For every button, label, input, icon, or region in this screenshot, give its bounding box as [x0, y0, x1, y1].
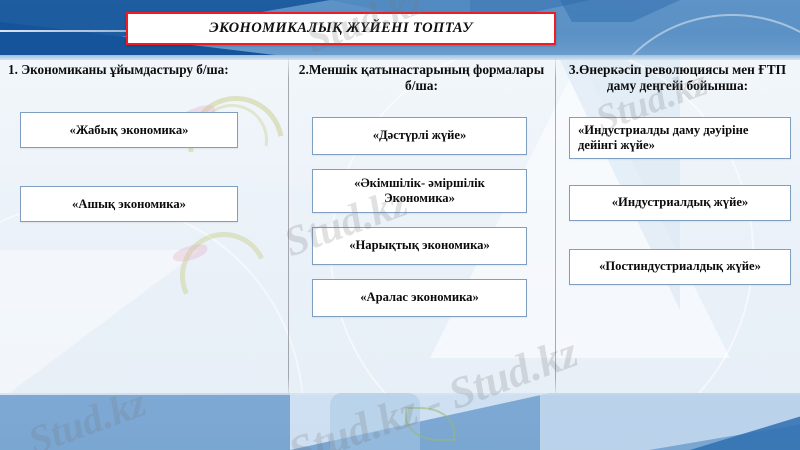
- column-3-heading: 3.Өнеркәсіп революциясы мен ҒТП даму дең…: [561, 62, 794, 95]
- list-item[interactable]: «Жабық экономика»: [20, 112, 238, 148]
- slide-title-plate: ЭКОНОМИКАЛЫҚ ЖҮЙЕНІ ТОПТАУ: [126, 12, 556, 45]
- column-1-items: «Жабық экономика» «Ашық экономика»: [6, 112, 282, 222]
- column-2-heading: 2.Меншік қатынастарының формалары б/ша:: [294, 62, 549, 95]
- page-title: ЭКОНОМИКАЛЫҚ ЖҮЙЕНІ ТОПТАУ: [209, 20, 472, 37]
- column-2-items: «Дәстүрлі жүйе» «Әкімшілік- әміршілік Эк…: [294, 117, 549, 317]
- column-organization-of-economy: 1. Экономиканы ұйымдастыру б/ша: «Жабық …: [0, 58, 288, 393]
- list-item[interactable]: «Индустриалды даму дәуіріне дейінгі жүйе…: [569, 117, 791, 159]
- banner-shape-far-right: [560, 0, 680, 22]
- columns-container: 1. Экономиканы ұйымдастыру б/ша: «Жабық …: [0, 58, 800, 393]
- list-item[interactable]: «Постиндустриалдық жүйе»: [569, 249, 791, 285]
- column-divider-1: [288, 58, 289, 393]
- column-3-items: «Индустриалды даму дәуіріне дейінгі жүйе…: [561, 117, 794, 285]
- list-item[interactable]: «Аралас экономика»: [312, 279, 527, 317]
- column-divider-2: [555, 58, 556, 393]
- column-industrial-revolution-level: 3.Өнеркәсіп революциясы мен ҒТП даму дең…: [555, 58, 800, 393]
- bottom-shape-dark-right: [690, 415, 800, 450]
- slide-canvas: ЭКОНОМИКАЛЫҚ ЖҮЙЕНІ ТОПТАУ 1. Экономикан…: [0, 0, 800, 450]
- list-item[interactable]: «Әкімшілік- әміршілік Экономика»: [312, 169, 527, 213]
- list-item[interactable]: «Индустриалдық жүйе»: [569, 185, 791, 221]
- list-item[interactable]: «Ашық экономика»: [20, 186, 238, 222]
- column-ownership-forms: 2.Меншік қатынастарының формалары б/ша: …: [288, 58, 555, 393]
- column-1-heading: 1. Экономиканы ұйымдастыру б/ша:: [6, 62, 282, 78]
- bottom-banner: [0, 393, 800, 450]
- list-item[interactable]: «Дәстүрлі жүйе»: [312, 117, 527, 155]
- list-item[interactable]: «Нарықтық экономика»: [312, 227, 527, 265]
